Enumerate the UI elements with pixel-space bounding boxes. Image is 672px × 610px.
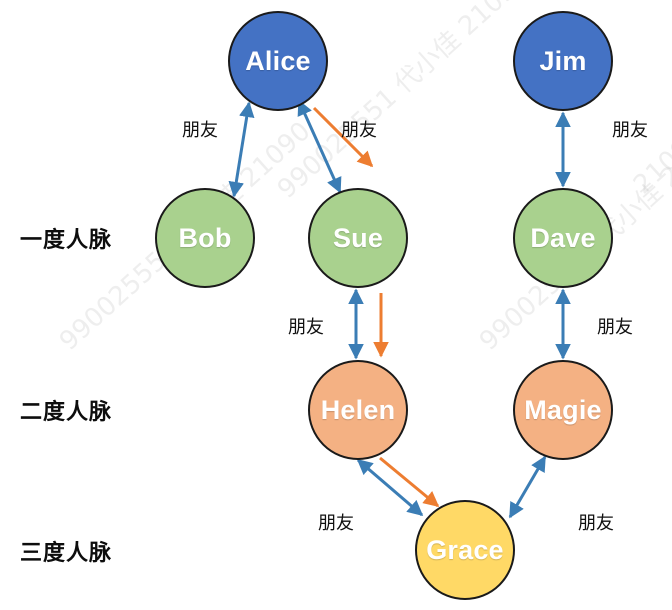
label-dave-magie: 朋友 <box>597 313 633 339</box>
node-sue[interactable]: Sue <box>308 188 408 288</box>
edge-group <box>234 101 563 517</box>
node-label-bob: Bob <box>178 225 231 252</box>
node-bob[interactable]: Bob <box>155 188 255 288</box>
node-label-grace: Grace <box>426 537 504 564</box>
node-helen[interactable]: Helen <box>308 360 408 460</box>
label-alice-bob: 朋友 <box>182 116 218 142</box>
node-magie[interactable]: Magie <box>513 360 613 460</box>
degree-1-label: 一度人脉 <box>20 222 112 254</box>
edge-helen-grace <box>358 460 422 515</box>
label-sue-helen: 朋友 <box>288 313 324 339</box>
label-jim-dave: 朋友 <box>612 116 648 142</box>
edge-alice-bob <box>234 103 249 196</box>
node-label-alice: Alice <box>245 48 311 75</box>
label-magie-grace: 朋友 <box>578 509 614 535</box>
edge-helen-grace <box>380 458 438 506</box>
edge-alice-sue <box>299 101 340 192</box>
node-label-dave: Dave <box>530 225 595 252</box>
node-label-helen: Helen <box>321 397 396 424</box>
node-grace[interactable]: Grace <box>415 500 515 600</box>
node-dave[interactable]: Dave <box>513 188 613 288</box>
label-alice-sue: 朋友 <box>341 116 377 142</box>
label-helen-grace: 朋友 <box>318 509 354 535</box>
network-diagram-canvas: 990025551 代小佳 21090990025551 代小佳 2109099… <box>0 0 672 610</box>
node-label-jim: Jim <box>539 48 586 75</box>
edge-magie-grace <box>510 457 545 517</box>
node-jim[interactable]: Jim <box>513 11 613 111</box>
node-label-sue: Sue <box>333 225 383 252</box>
degree-3-label: 三度人脉 <box>20 535 112 567</box>
node-label-magie: Magie <box>524 397 602 424</box>
node-alice[interactable]: Alice <box>228 11 328 111</box>
degree-2-label: 二度人脉 <box>20 394 112 426</box>
